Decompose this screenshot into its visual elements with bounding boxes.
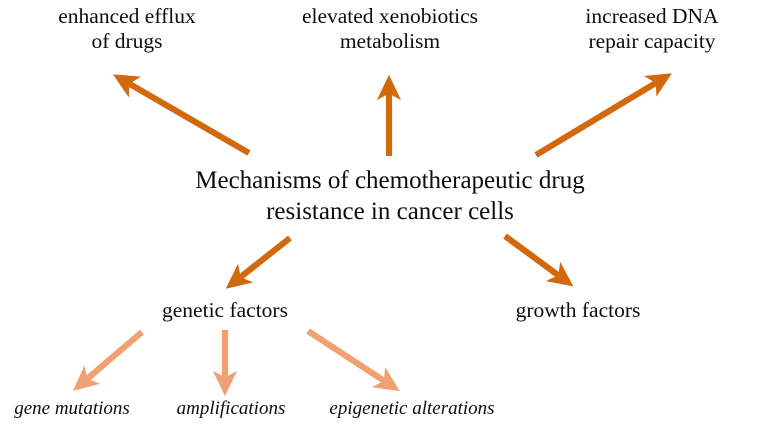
node-growth-factors: growth factors [478, 298, 678, 323]
edge-genetic-to-epigenetic [308, 331, 392, 386]
diagram-canvas: enhanced efflux of drugs elevated xenobi… [0, 0, 778, 433]
node-increased-dna-repair-capacity: increased DNA repair capacity [528, 4, 776, 55]
node-enhanced-efflux-of-drugs: enhanced efflux of drugs [2, 4, 252, 55]
node-gene-mutations: gene mutations [0, 398, 148, 420]
edge-center-to-growth-factors [505, 236, 566, 281]
node-center-mechanisms-of-drug-resistance: Mechanisms of chemotherapeutic drug resi… [128, 166, 652, 227]
edge-genetic-to-gene-mutations [80, 332, 142, 385]
node-elevated-xenobiotics-metabolism: elevated xenobiotics metabolism [268, 4, 512, 55]
edge-center-to-genetic-factors [233, 238, 290, 283]
node-epigenetic-alterations: epigenetic alterations [312, 398, 512, 420]
edge-center-to-efflux [121, 79, 249, 153]
node-amplifications: amplifications [160, 398, 302, 420]
node-genetic-factors: genetic factors [125, 298, 325, 323]
edge-center-to-dna-repair [536, 78, 664, 155]
